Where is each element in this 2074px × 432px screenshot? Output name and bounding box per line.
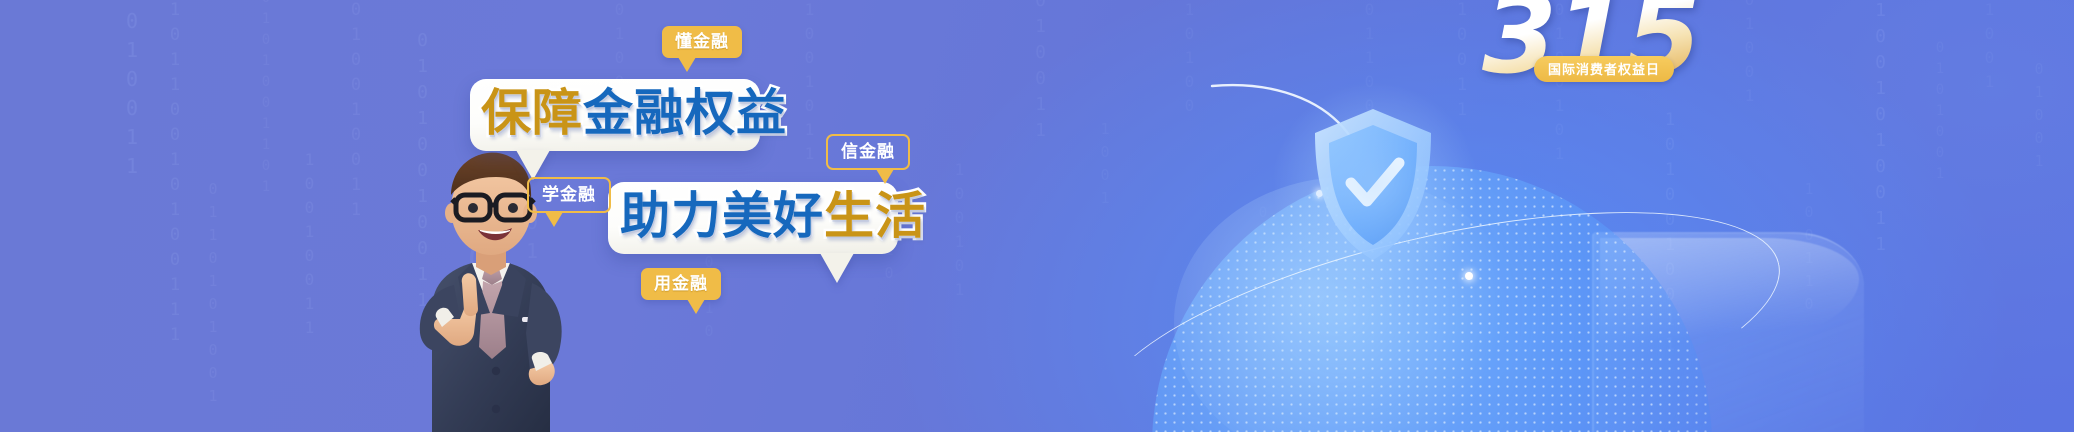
tag-yong-jinrong: 用金融 <box>641 268 721 300</box>
tag-xue-jinrong: 学金融 <box>527 177 611 213</box>
tag-tail <box>876 169 894 184</box>
tag-yong-jinrong-label: 用金融 <box>654 274 708 293</box>
binary-column: 01001 <box>2030 60 2048 175</box>
binary-column: 010011 <box>1030 0 1051 146</box>
tag-tail <box>687 299 705 314</box>
binary-column: 010010011 <box>346 0 366 225</box>
promo-banner: 1010011101100101001110110101001010100110… <box>0 0 2074 432</box>
binary-column: 1001010011 <box>1870 0 1891 260</box>
tag-xin-jinrong-label: 信金融 <box>841 142 895 161</box>
logo-315: 315 国际消费者权益日 <box>1482 0 1712 104</box>
headline-line-2-part-1: 助力美好 <box>620 187 824 245</box>
binary-column: 1001011 <box>800 0 819 168</box>
binary-column: 10100 <box>1180 0 1199 120</box>
tag-tail <box>678 57 696 72</box>
binary-column: 10011 <box>1452 0 1472 125</box>
bubble-tail <box>516 150 550 180</box>
binary-column: 10110010100111 <box>165 0 185 350</box>
binary-column: 100101 <box>950 160 969 304</box>
tag-tail <box>545 212 563 227</box>
binary-column: 1001 <box>1096 120 1114 212</box>
orbit-node-icon <box>1465 272 1473 280</box>
tag-xue-jinrong-label: 学金融 <box>542 185 596 204</box>
headline-line-1-part-2: 金融权益 <box>583 84 787 142</box>
binary-column: 01001 <box>1740 0 1759 110</box>
binary-column: 10010011 <box>300 150 319 342</box>
binary-column: 0101001 <box>1932 40 1948 187</box>
tag-dong-jinrong-label: 懂金融 <box>675 32 729 51</box>
bubble-tail <box>820 253 854 283</box>
shield-check-icon <box>1307 105 1439 265</box>
headline-line-2: 助力美好生活 <box>620 191 926 241</box>
headline-line-1: 保障金融权益 <box>481 88 787 138</box>
binary-column: 0101001101 <box>258 0 274 200</box>
binary-column: 0110101001 <box>204 180 222 410</box>
tag-xin-jinrong: 信金融 <box>826 134 910 170</box>
binary-column: 1001 <box>1980 0 1999 96</box>
headline-line-2-part-2: 生活 <box>824 187 926 245</box>
logo-caption-pill: 国际消费者权益日 <box>1534 56 1674 82</box>
binary-column: 1010011 <box>120 0 144 183</box>
headline-line-1-part-1: 保障 <box>481 84 583 142</box>
tag-dong-jinrong: 懂金融 <box>662 26 742 58</box>
